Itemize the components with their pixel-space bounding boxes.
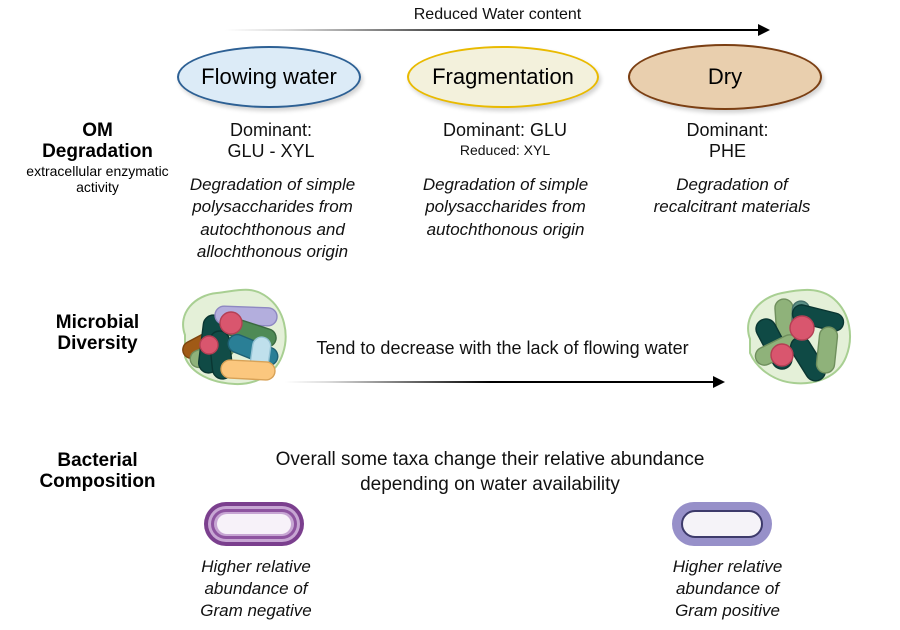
diversity-caption: Tend to decrease with the lack of flowin… — [275, 338, 730, 359]
stage-label: Fragmentation — [432, 64, 574, 90]
stage-description-fragmentation: Degradation of simple polysaccharides fr… — [408, 174, 603, 241]
row-title-line2: Composition — [39, 471, 155, 492]
dominant-label: Dominant: GLU — [415, 120, 595, 141]
row-title-line2: Degradation — [42, 141, 153, 162]
stage-ellipse-fragmentation[interactable]: Fragmentation — [407, 46, 599, 108]
gram-negative-caption: Higher relative abundance of Gram negati… — [186, 556, 326, 622]
composition-caption-line1: Overall some taxa change their relative … — [232, 448, 748, 473]
low-diversity-microbial-cluster — [736, 283, 858, 391]
row-title-line1: OM — [82, 120, 113, 141]
diversity-arrow — [285, 376, 725, 388]
dominant-value: PHE — [645, 141, 810, 162]
stage-ellipse-flowing-water[interactable]: Flowing water — [177, 46, 361, 108]
row-label-microbial-diversity: Microbial Diversity — [10, 312, 185, 355]
stage-dominant-fragmentation: Dominant: GLU Reduced: XYL — [415, 120, 595, 159]
dominant-label: Dominant: — [186, 120, 356, 141]
stage-ellipse-dry[interactable]: Dry — [628, 44, 822, 110]
row-label-bacterial-composition: Bacterial Composition — [10, 450, 185, 493]
row-subtitle: extracellular enzymatic activity — [10, 163, 185, 195]
row-title-line2: Diversity — [57, 333, 137, 354]
composition-caption-line2: depending on water availability — [232, 473, 748, 498]
dominant-value: GLU - XYL — [186, 141, 356, 162]
figure-canvas: Reduced Water content OM Degradation ext… — [0, 0, 900, 630]
composition-caption: Overall some taxa change their relative … — [232, 448, 748, 497]
stage-description-flowing-water: Degradation of simple polysaccharides fr… — [175, 174, 370, 264]
row-title-line1: Microbial — [56, 312, 139, 333]
reduced-water-content-arrow — [225, 24, 770, 36]
gram-positive-caption: Higher relative abundance of Gram positi… — [655, 556, 800, 622]
stage-label: Flowing water — [201, 64, 337, 90]
row-label-om-degradation: OM Degradation extracellular enzymatic a… — [10, 120, 185, 195]
dominant-secondary: Reduced: XYL — [415, 142, 595, 159]
stage-dominant-dry: Dominant: PHE — [645, 120, 810, 162]
stage-dominant-flowing-water: Dominant: GLU - XYL — [186, 120, 356, 162]
stage-description-dry: Degradation of recalcitrant materials — [637, 174, 827, 219]
gram-positive-cell — [672, 502, 772, 546]
reduced-water-content-label: Reduced Water content — [225, 6, 770, 24]
high-diversity-microbial-cluster — [165, 283, 293, 391]
gram-negative-cell — [204, 502, 304, 546]
row-title-line1: Bacterial — [57, 450, 137, 471]
stage-label: Dry — [708, 64, 742, 90]
dominant-label: Dominant: — [645, 120, 810, 141]
